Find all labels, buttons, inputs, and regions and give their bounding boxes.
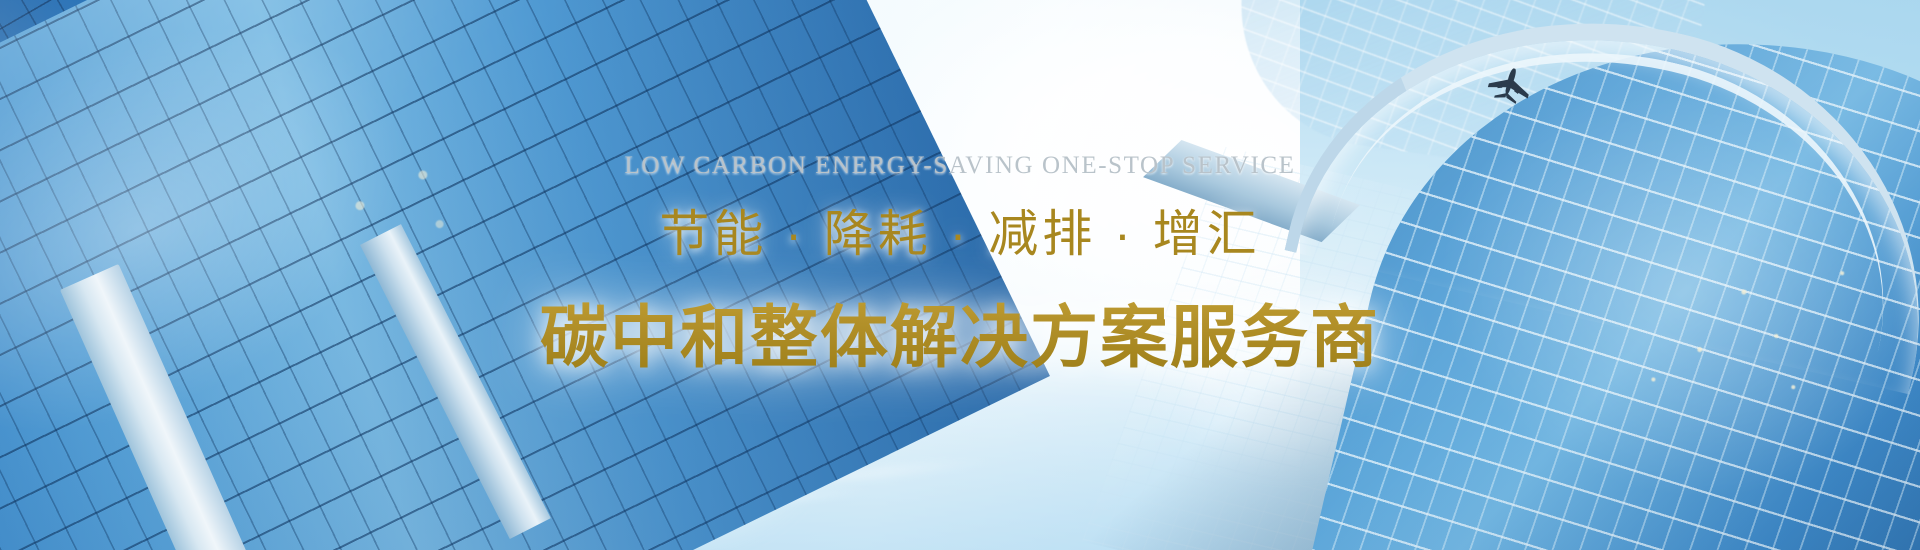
hero-banner: LOW CARBON ENERGY-SAVING ONE-STOP SERVIC… <box>0 0 1920 550</box>
